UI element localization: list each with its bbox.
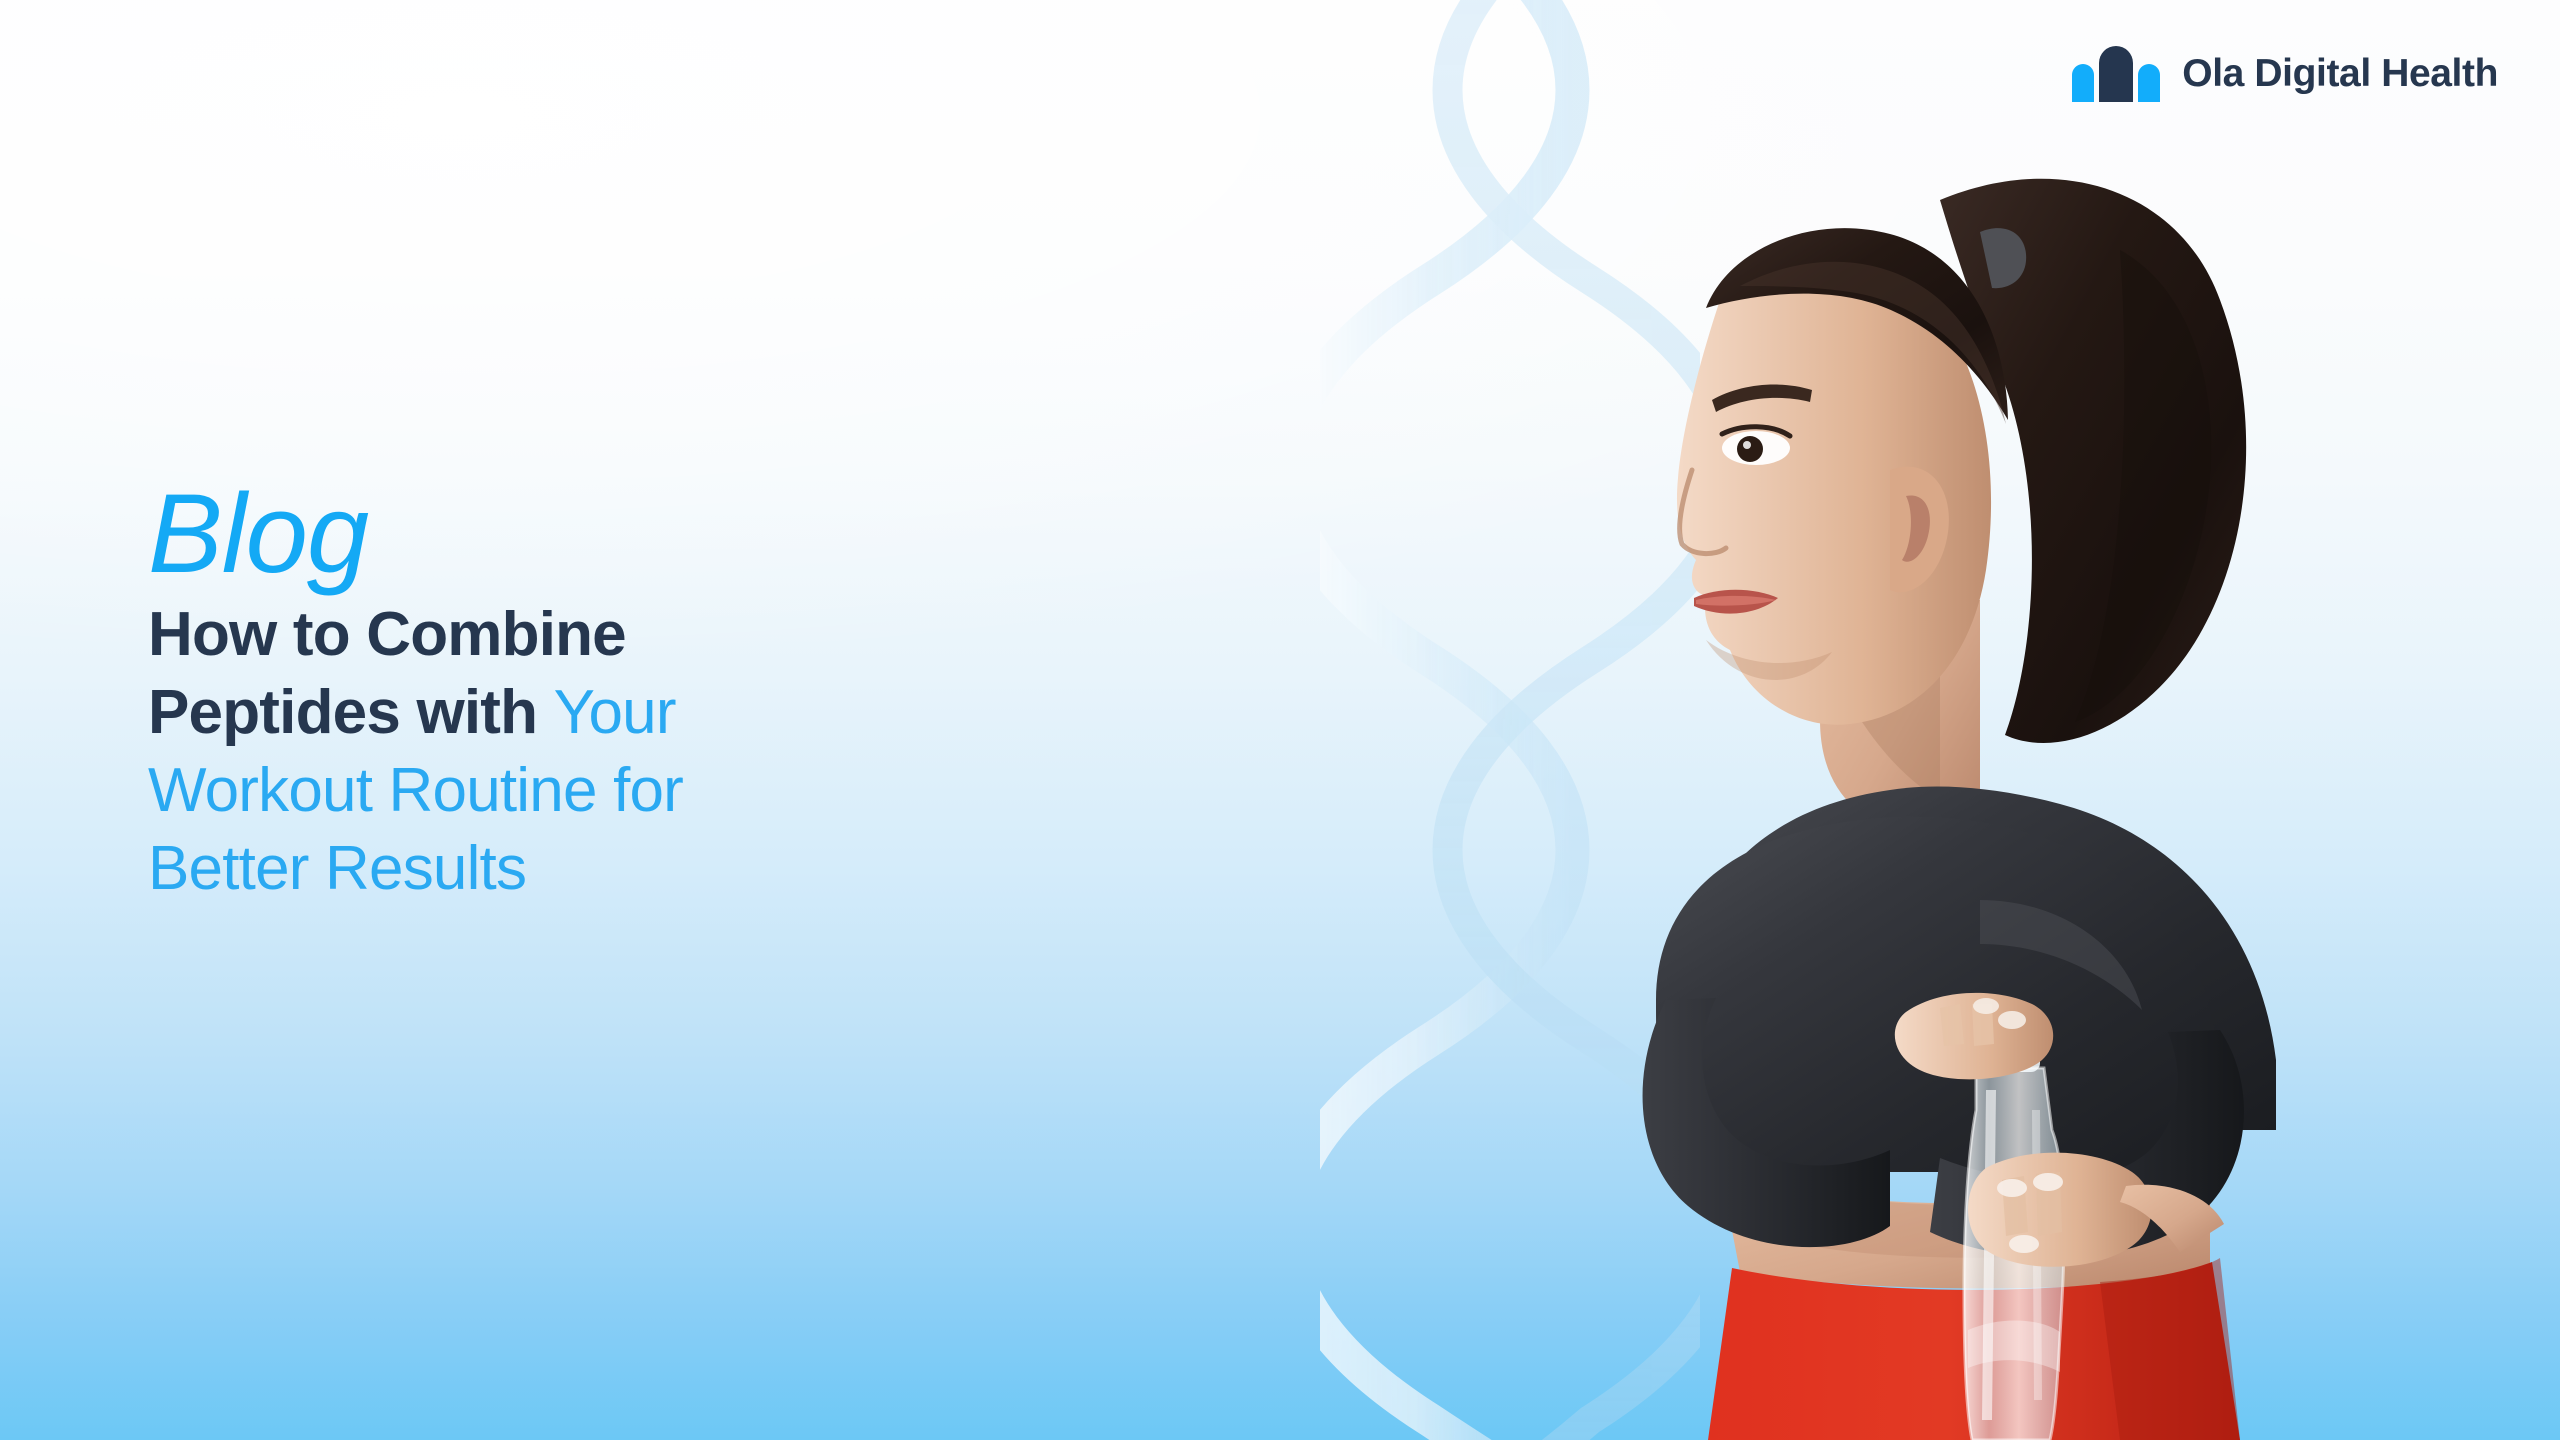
logo-brand-name: Ola Digital Health bbox=[2182, 54, 2498, 93]
brand-logo[interactable]: Ola Digital Health bbox=[2072, 42, 2498, 104]
hero-photo-woman-with-water-bottle bbox=[1420, 0, 2560, 1440]
headline-seg: Peptides with bbox=[148, 678, 554, 747]
logo-bar-right bbox=[2138, 64, 2160, 102]
blog-banner: Ola Digital Health Blog How to Combine P… bbox=[0, 0, 2560, 1440]
page-title: How to Combine Peptides with Your Workou… bbox=[148, 604, 1048, 900]
headline-seg-accent: Better Results bbox=[148, 834, 526, 903]
dna-helix-graphic bbox=[1320, 0, 1700, 1440]
headline-line-3: Workout Routine for bbox=[148, 760, 1048, 822]
headline-seg-accent: Your bbox=[554, 678, 676, 747]
logo-mark-icon bbox=[2072, 44, 2160, 102]
headline-line-4: Better Results bbox=[148, 838, 1048, 900]
headline-line-1: How to Combine bbox=[148, 604, 1048, 666]
hero-copy: Blog How to Combine Peptides with Your W… bbox=[148, 478, 1048, 916]
headline-seg: How to Combine bbox=[148, 600, 626, 669]
headline-seg-accent: Workout Routine for bbox=[148, 756, 683, 825]
logo-bar-center bbox=[2099, 46, 2133, 102]
blog-eyebrow-label: Blog bbox=[148, 478, 1048, 590]
headline-line-2: Peptides with Your bbox=[148, 682, 1048, 744]
logo-bar-left bbox=[2072, 64, 2094, 102]
